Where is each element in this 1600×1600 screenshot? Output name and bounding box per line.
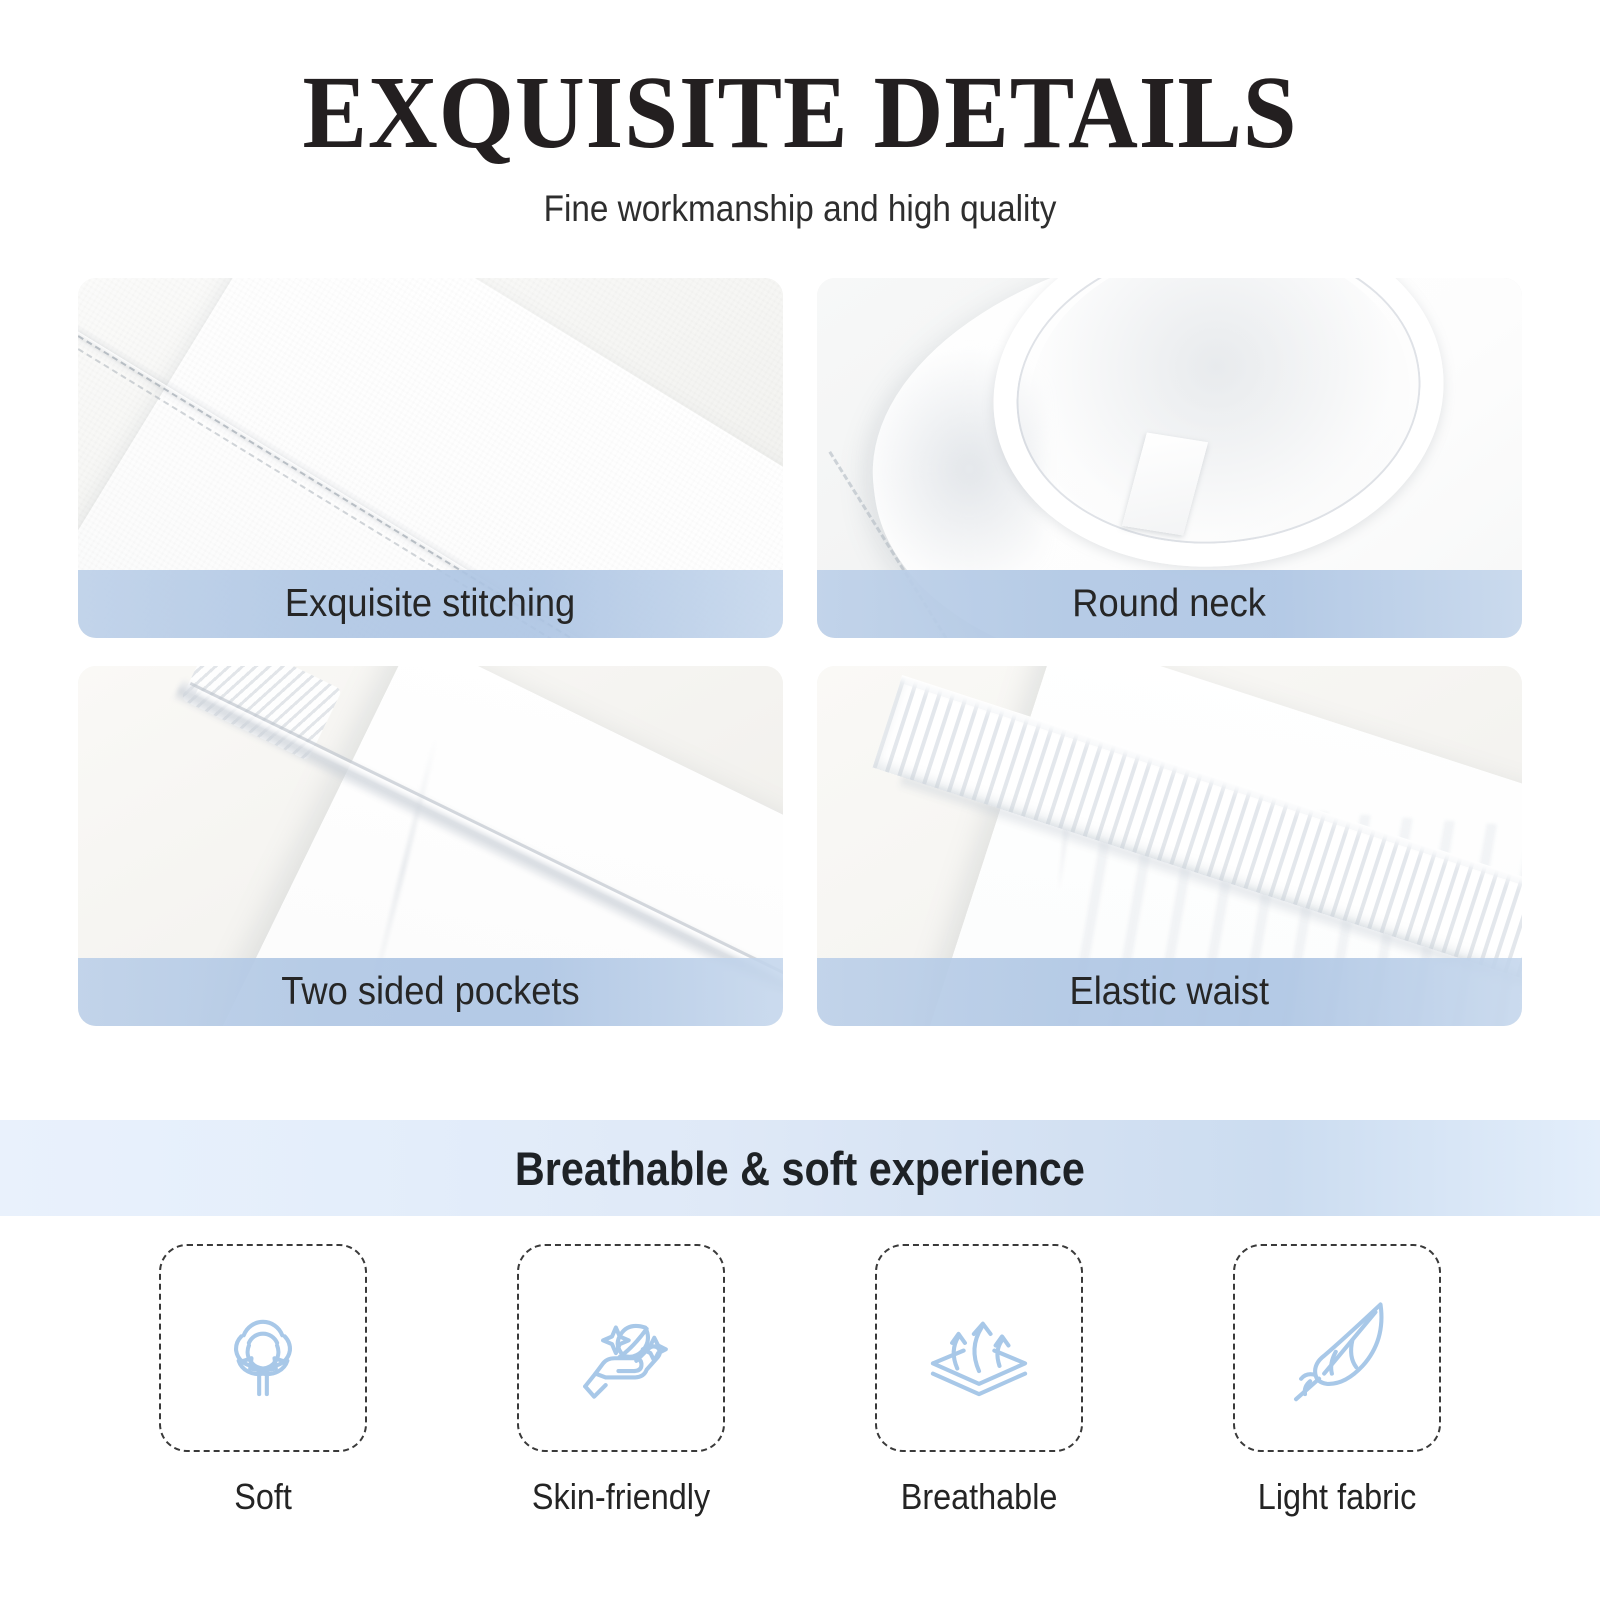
page-title: EXQUISITE DETAILS [56,58,1544,167]
detail-card-grid: Exquisite stitching Round neck [78,278,1522,1026]
card-caption: Elastic waist [817,958,1522,1026]
cotton-boll-icon [199,1284,327,1412]
card-caption: Two sided pockets [78,958,783,1026]
banner-title: Breathable & soft experience [515,1141,1085,1196]
feature-soft: Soft [159,1244,367,1518]
card-caption: Round neck [817,570,1522,638]
card-caption-label: Elastic waist [1070,970,1270,1014]
card-caption: Exquisite stitching [78,570,783,638]
feature-icon-box [517,1244,725,1452]
feature-breathable: Breathable [875,1244,1083,1518]
detail-card-elastic-waist: Elastic waist [817,666,1522,1026]
header: EXQUISITE DETAILS Fine workmanship and h… [0,0,1600,230]
feature-skin-friendly: Skin-friendly [517,1244,725,1518]
feature-icon-box [159,1244,367,1452]
hand-holding-leaf-icon [557,1284,685,1412]
feature-label: Light fabric [1258,1476,1416,1518]
feature-icon-box [1233,1244,1441,1452]
card-caption-label: Exquisite stitching [285,582,575,626]
detail-card-two-sided-pockets: Two sided pockets [78,666,783,1026]
product-detail-infographic: EXQUISITE DETAILS Fine workmanship and h… [0,0,1600,1600]
airflow-layers-icon [915,1284,1043,1412]
feature-label: Soft [234,1476,292,1518]
page-subtitle: Fine workmanship and high quality [80,189,1520,230]
breathable-banner: Breathable & soft experience [0,1120,1600,1216]
detail-card-exquisite-stitching: Exquisite stitching [78,278,783,638]
feature-row: Soft Skin-friendly [0,1244,1600,1518]
feature-icon-box [875,1244,1083,1452]
card-caption-label: Round neck [1073,582,1267,626]
detail-card-round-neck: Round neck [817,278,1522,638]
feature-label: Skin-friendly [532,1476,710,1518]
feature-light-fabric: Light fabric [1233,1244,1441,1518]
card-caption-label: Two sided pockets [281,970,579,1014]
feature-label: Breathable [901,1476,1058,1518]
feather-icon [1273,1284,1401,1412]
